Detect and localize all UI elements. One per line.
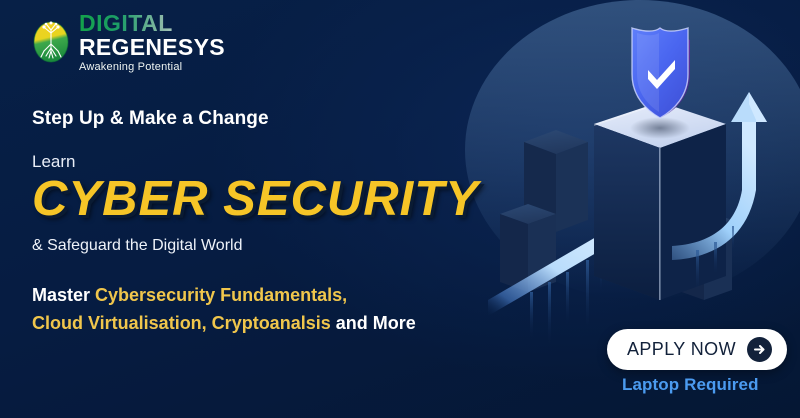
promo-title: CYBER SECURITY: [32, 174, 532, 225]
promo-copy: Step Up & Make a Change Learn CYBER SECU…: [32, 108, 532, 338]
brand-tagline: Awakening Potential: [79, 62, 225, 73]
arrow-right-circle-icon: [747, 337, 772, 362]
brand-logo[interactable]: DIGITAL REGENESYS Awakening Potential: [30, 10, 225, 73]
laptop-required-note: Laptop Required: [622, 375, 759, 395]
tree-roots-emblem-icon: [30, 18, 72, 66]
promo-benefits: Master Cybersecurity Fundamentals, Cloud…: [32, 282, 532, 338]
benefits-highlight-1: Cybersecurity Fundamentals,: [95, 285, 347, 305]
benefits-trail: and More: [331, 313, 416, 333]
benefits-highlight-2: Cloud Virtualisation, Cryptoanalsis: [32, 313, 331, 333]
apply-now-button[interactable]: APPLY NOW: [607, 329, 787, 370]
brand-wordmark: DIGITAL REGENESYS Awakening Potential: [79, 10, 225, 73]
promo-subtitle: & Safeguard the Digital World: [32, 237, 532, 255]
isometric-pedestal: [594, 102, 726, 300]
promo-eyebrow: Learn: [32, 152, 532, 172]
brand-name-digital: DIGITAL: [79, 12, 225, 35]
brand-name-regenesys: REGENESYS: [79, 36, 225, 59]
benefits-lead: Master: [32, 285, 95, 305]
apply-now-label: APPLY NOW: [627, 339, 736, 360]
promo-headline: Step Up & Make a Change: [32, 108, 532, 130]
promo-banner: DIGITAL REGENESYS Awakening Potential St…: [0, 0, 800, 418]
